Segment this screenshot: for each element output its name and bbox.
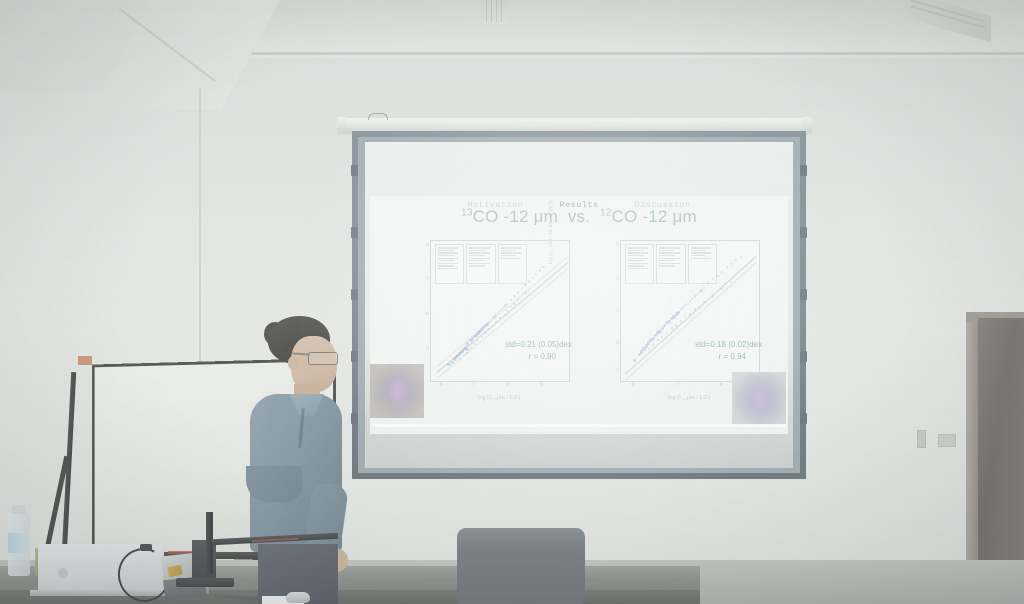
ytick: 5: [611, 368, 619, 374]
data-point: [666, 332, 668, 334]
light-switch-icon[interactable]: [917, 430, 926, 448]
plot-right-std: std=0.18 (0.02)dex: [695, 340, 762, 349]
presentation-slide: Motivation Results Discussion 13CO -12 μ…: [370, 196, 788, 434]
screen-tab: [800, 351, 807, 362]
ytick: 9: [611, 242, 619, 248]
data-point: [466, 342, 469, 345]
data-point: [677, 311, 680, 314]
legend-column-2: [656, 244, 685, 284]
screen-tab: [800, 227, 807, 238]
data-point: [513, 295, 515, 297]
wall-outlet-icon[interactable]: [938, 434, 956, 447]
slide-title: 13CO -12 μm vs. 12CO -12 μm: [370, 207, 788, 227]
data-point: [532, 277, 534, 279]
slide-progress-bar: [372, 424, 786, 427]
presenter: [236, 316, 354, 604]
data-point: [652, 343, 654, 345]
xtick: 8: [506, 382, 509, 388]
title-sup-12: 12: [600, 207, 612, 218]
data-point: [521, 288, 523, 290]
cable-plug-icon: [140, 544, 152, 551]
computer-mouse[interactable]: [286, 592, 310, 603]
data-point: [654, 334, 657, 337]
ytick: 6: [421, 311, 429, 317]
data-point: [477, 339, 479, 341]
data-point: [657, 339, 659, 341]
plot-left-r: r = 0.90: [529, 352, 556, 361]
ytick: 8: [611, 276, 619, 282]
data-point: [528, 280, 530, 282]
data-point: [730, 263, 732, 265]
glasses-icon: [308, 352, 338, 365]
ytick: 6: [611, 340, 619, 346]
title-text-1: CO -12 μm: [473, 207, 558, 226]
screen-roller-housing: [340, 118, 810, 132]
data-point: [703, 287, 705, 289]
plot-left-xlabel: log (L₁₂μm / L⊙): [430, 394, 568, 401]
galaxy-image-left: [370, 364, 424, 418]
monitor-foot: [176, 578, 234, 587]
xtick: 7: [472, 382, 475, 388]
plot-left-std: std=0.21 (0.05)dex: [505, 340, 572, 349]
data-point: [682, 307, 684, 309]
shirt-sleeve: [246, 466, 302, 502]
data-point: [542, 266, 544, 268]
screen-tab: [351, 289, 358, 300]
data-point: [539, 269, 541, 271]
data-point: [726, 266, 728, 268]
data-point: [640, 350, 643, 353]
title-vs: vs.: [568, 207, 590, 226]
ytick: 7: [611, 308, 619, 314]
data-point: [658, 330, 661, 333]
xtick: 6: [440, 382, 443, 388]
title-sup-13: 13: [461, 207, 473, 218]
data-point: [484, 332, 486, 334]
data-point: [510, 299, 512, 301]
legend-column-1: [625, 244, 654, 284]
data-point: [517, 291, 519, 293]
data-point: [506, 303, 508, 305]
plot-right-legend: [625, 244, 717, 284]
ytick: 5: [421, 346, 429, 352]
data-point: [687, 303, 689, 305]
plot-right-r: r = 0.94: [719, 352, 746, 361]
title-text-2: CO -12 μm: [612, 207, 697, 226]
data-point: [712, 295, 714, 297]
data-point: [470, 347, 472, 349]
data-point: [717, 275, 719, 277]
data-point: [672, 315, 675, 318]
laptop-logo-icon: [58, 568, 68, 578]
data-point: [535, 273, 537, 275]
whiteboard-clip-icon: [78, 356, 92, 365]
legend-column-3: [498, 244, 527, 284]
screen-tab: [800, 165, 807, 176]
data-point: [473, 343, 475, 345]
xtick: 9: [540, 382, 543, 388]
data-point: [668, 320, 671, 323]
legend-column-2: [466, 244, 495, 284]
legend-column-1: [435, 244, 464, 284]
data-point: [691, 298, 693, 300]
data-point: [517, 299, 519, 301]
data-point: [735, 259, 737, 261]
screen-tab: [351, 227, 358, 238]
data-point: [513, 303, 515, 305]
data-point: [652, 337, 655, 340]
screen-tab: [351, 165, 358, 176]
data-point: [700, 289, 702, 291]
bottle-cap: [12, 505, 26, 514]
galaxy-image-right: [732, 372, 786, 426]
data-point: [524, 291, 526, 293]
data-point: [663, 324, 666, 327]
data-point: [648, 348, 650, 350]
data-point: [524, 284, 526, 286]
data-point: [642, 347, 645, 350]
data-point: [488, 328, 490, 330]
data-point: [633, 359, 636, 362]
screen-housing-cap-left: [337, 117, 347, 134]
data-point: [740, 256, 742, 258]
xtick: 6: [632, 382, 635, 388]
fit-line-lower: [437, 268, 569, 379]
ytick: 8: [421, 242, 429, 248]
plot-left-legend: [435, 244, 527, 284]
screen-hook-icon: [368, 113, 388, 120]
xtick: 7: [676, 382, 679, 388]
bottle-label: [8, 533, 30, 553]
data-point: [694, 308, 696, 310]
ytick: 7: [421, 276, 429, 282]
data-point: [638, 353, 641, 356]
screen-tab: [800, 289, 807, 300]
xtick: 8: [720, 382, 723, 388]
classroom-photo: Motivation Results Discussion 13CO -12 μ…: [0, 0, 1024, 604]
data-point: [671, 327, 673, 329]
plot-right-ylabel: log (L₁₂CO / (K km s⁻¹ pc²)): [548, 196, 554, 264]
office-chair[interactable]: [457, 528, 585, 604]
data-point: [689, 300, 691, 302]
data-point: [481, 336, 483, 338]
data-point: [721, 271, 723, 273]
screen-tab: [800, 413, 807, 424]
data-point: [459, 358, 461, 360]
ear: [288, 356, 298, 370]
data-point: [647, 341, 650, 344]
data-point: [661, 327, 664, 330]
ceiling-vent-icon: [482, 0, 508, 24]
data-point: [492, 325, 494, 327]
data-point: [696, 294, 698, 296]
data-point: [503, 314, 505, 316]
